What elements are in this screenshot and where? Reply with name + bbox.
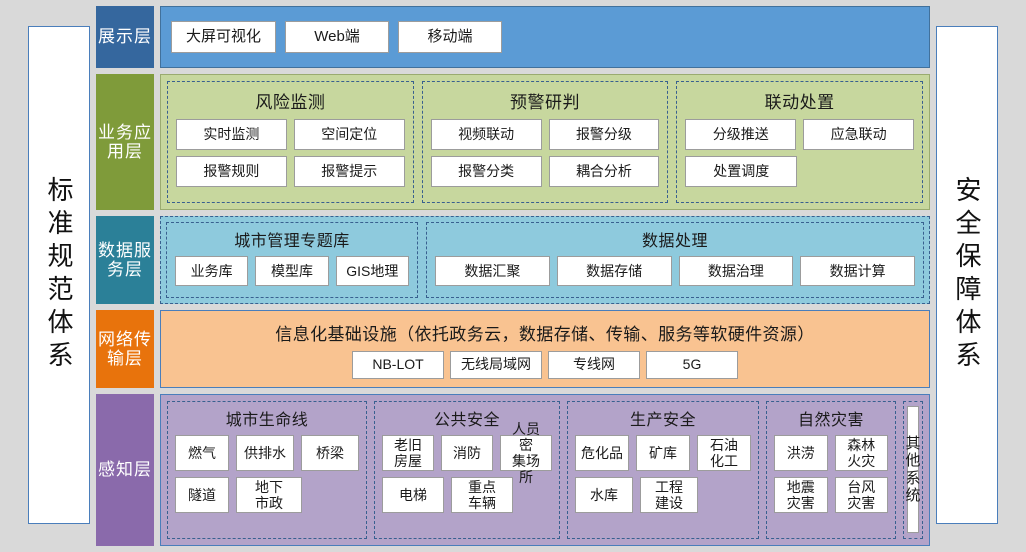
layer-tag-business: 业务应用层 [96,74,154,210]
group-row: 地震灾害 台风灾害 [774,477,888,513]
group-risk-monitoring: 风险监测 实时监测 空间定位 报警规则 报警提示 [167,81,414,203]
group-title-production-safety: 生产安全 [630,406,696,430]
group-early-warning: 预警研判 视频联动 报警分级 报警分类 耦合分析 [422,81,669,203]
chip-gis-geography[interactable]: GIS地理 [336,256,409,286]
layer-tag-network: 网络传输层 [96,310,154,388]
left-banner-label: 标准规范体系 [46,176,72,374]
group-row: 隧道 地下市政 [175,477,359,513]
group-row: 电梯 重点车辆 [382,477,552,513]
chip-elevator[interactable]: 电梯 [382,477,444,513]
chip-water-supply-drainage[interactable]: 供排水 [236,435,294,471]
chip-realtime-monitoring[interactable]: 实时监测 [176,119,287,150]
layer-sensing: 感知层 城市生命线 燃气 供排水 桥梁 隧道 地下市政 [96,394,930,546]
row-spacer [705,477,751,513]
chip-gas[interactable]: 燃气 [175,435,229,471]
group-public-safety: 公共安全 老旧房屋 消防 人员密集场所 电梯 重点车辆 [374,401,560,539]
group-title-risk-monitoring: 风险监测 [255,88,325,113]
group-title-early-warning: 预警研判 [510,88,580,113]
layer-network: 网络传输层 信息化基础设施（依托政务云，数据存储、传输、服务等软硬件资源） NB… [96,310,930,388]
group-title-city-lifeline: 城市生命线 [226,406,309,430]
chip-alarm-rules[interactable]: 报警规则 [176,156,287,187]
group-city-lifeline: 城市生命线 燃气 供排水 桥梁 隧道 地下市政 [167,401,367,539]
chip-alarm-classification[interactable]: 报警分类 [431,156,542,187]
group-data-processing: 数据处理 数据汇聚 数据存储 数据治理 数据计算 [426,222,924,298]
layer-body-data-service: 城市管理专题库 业务库 模型库 GIS地理 数据处理 数据汇聚 [160,216,930,304]
row-spacer [520,477,552,513]
group-title-city-management-repository: 城市管理专题库 [234,227,350,251]
group-row: 数据汇聚 数据存储 数据治理 数据计算 [435,256,915,286]
layer-tag-sensing: 感知层 [96,394,154,546]
group-title-linked-disposal: 联动处置 [765,88,835,113]
right-banner-label: 安全保障体系 [954,176,980,374]
group-row: 业务库 模型库 GIS地理 [175,256,409,286]
group-city-management-repository: 城市管理专题库 业务库 模型库 GIS地理 [166,222,418,298]
left-banner-standards: 标准规范体系 [28,26,90,524]
chip-key-vehicles[interactable]: 重点车辆 [451,477,513,513]
chip-video-linkage[interactable]: 视频联动 [431,119,542,150]
chip-reservoir[interactable]: 水库 [575,477,633,513]
chip-underground-municipal[interactable]: 地下市政 [236,477,302,513]
group-row: 危化品 矿库 石油化工 [575,435,751,471]
chip-crowded-places[interactable]: 人员密集场所 [500,435,552,471]
chip-5g[interactable]: 5G [646,351,738,379]
group-row: 处置调度 [685,156,914,187]
layer-body-presentation: 大屏可视化 Web端 移动端 [160,6,930,68]
chip-alarm-prompt[interactable]: 报警提示 [294,156,405,187]
group-title-public-safety: 公共安全 [434,406,500,430]
layer-body-sensing: 城市生命线 燃气 供排水 桥梁 隧道 地下市政 [160,394,930,546]
group-row: 老旧房屋 消防 人员密集场所 [382,435,552,471]
chip-data-computation[interactable]: 数据计算 [800,256,915,286]
group-row: 报警规则 报警提示 [176,156,405,187]
chip-flood[interactable]: 洪涝 [774,435,828,471]
chip-alarm-grading[interactable]: 报警分级 [549,119,660,150]
group-other-systems: 其他系统 [903,401,923,539]
group-linked-disposal: 联动处置 分级推送 应急联动 处置调度 [676,81,923,203]
right-banner-security: 安全保障体系 [936,26,998,524]
layer-tag-data-service: 数据服务层 [96,216,154,304]
layer-presentation: 展示层 大屏可视化 Web端 移动端 [96,6,930,68]
layer-body-business: 风险监测 实时监测 空间定位 报警规则 报警提示 预警研判 [160,74,930,210]
layer-data-service: 数据服务层 城市管理专题库 业务库 模型库 GIS地理 数据处理 [96,216,930,304]
chip-old-housing[interactable]: 老旧房屋 [382,435,434,471]
row-spacer [804,156,914,187]
layer-tag-presentation: 展示层 [96,6,154,68]
chip-dedicated-line[interactable]: 专线网 [548,351,640,379]
chip-wireless-lan[interactable]: 无线局域网 [450,351,542,379]
chip-earthquake-disaster[interactable]: 地震灾害 [774,477,828,513]
chip-emergency-linkage[interactable]: 应急联动 [803,119,914,150]
layer-body-network: 信息化基础设施（依托政务云，数据存储、传输、服务等软硬件资源） NB-LOT 无… [160,310,930,388]
chip-typhoon-disaster[interactable]: 台风灾害 [835,477,889,513]
chip-data-governance[interactable]: 数据治理 [679,256,794,286]
chip-bridge[interactable]: 桥梁 [301,435,359,471]
group-natural-disaster: 自然灾害 洪涝 森林火灾 地震灾害 台风灾害 [766,401,896,539]
group-row: 洪涝 森林火灾 [774,435,888,471]
group-row: 分级推送 应急联动 [685,119,914,150]
chip-web-client[interactable]: Web端 [285,21,389,53]
chip-engineering-construction[interactable]: 工程建设 [640,477,698,513]
chip-fire-protection[interactable]: 消防 [441,435,493,471]
chip-hazardous-chemicals[interactable]: 危化品 [575,435,629,471]
chip-mine-storage[interactable]: 矿库 [636,435,690,471]
chip-other-systems[interactable]: 其他系统 [907,406,919,533]
architecture-diagram: 标准规范体系 展示层 大屏可视化 Web端 移动端 业务应用层 风险监测 实时监… [0,0,1026,552]
group-row: 实时监测 空间定位 [176,119,405,150]
chip-spatial-positioning[interactable]: 空间定位 [294,119,405,150]
chip-coupling-analysis[interactable]: 耦合分析 [549,156,660,187]
group-row: 报警分类 耦合分析 [431,156,660,187]
network-chip-row: NB-LOT 无线局域网 专线网 5G [352,351,738,379]
chip-petrochemical[interactable]: 石油化工 [697,435,751,471]
row-spacer [309,477,359,513]
chip-nb-lot[interactable]: NB-LOT [352,351,444,379]
chip-disposal-dispatch[interactable]: 处置调度 [685,156,797,187]
group-production-safety: 生产安全 危化品 矿库 石油化工 水库 工程建设 [567,401,759,539]
chip-data-aggregation[interactable]: 数据汇聚 [435,256,550,286]
chip-mobile-client[interactable]: 移动端 [398,21,502,53]
chip-big-screen-visual[interactable]: 大屏可视化 [171,21,276,53]
network-infrastructure-title: 信息化基础设施（依托政务云，数据存储、传输、服务等软硬件资源） [275,320,814,345]
layer-stack: 展示层 大屏可视化 Web端 移动端 业务应用层 风险监测 实时监测 空间定位 [96,6,930,546]
group-title-natural-disaster: 自然灾害 [798,406,864,430]
chip-tunnel[interactable]: 隧道 [175,477,229,513]
chip-model-repository[interactable]: 模型库 [255,256,328,286]
chip-graded-push[interactable]: 分级推送 [685,119,796,150]
layer-business: 业务应用层 风险监测 实时监测 空间定位 报警规则 报警提示 [96,74,930,210]
chip-forest-fire[interactable]: 森林火灾 [835,435,889,471]
group-row: 水库 工程建设 [575,477,751,513]
chip-business-repository[interactable]: 业务库 [175,256,248,286]
group-row: 视频联动 报警分级 [431,119,660,150]
group-row: 燃气 供排水 桥梁 [175,435,359,471]
chip-data-storage[interactable]: 数据存储 [557,256,672,286]
group-title-data-processing: 数据处理 [642,227,708,251]
